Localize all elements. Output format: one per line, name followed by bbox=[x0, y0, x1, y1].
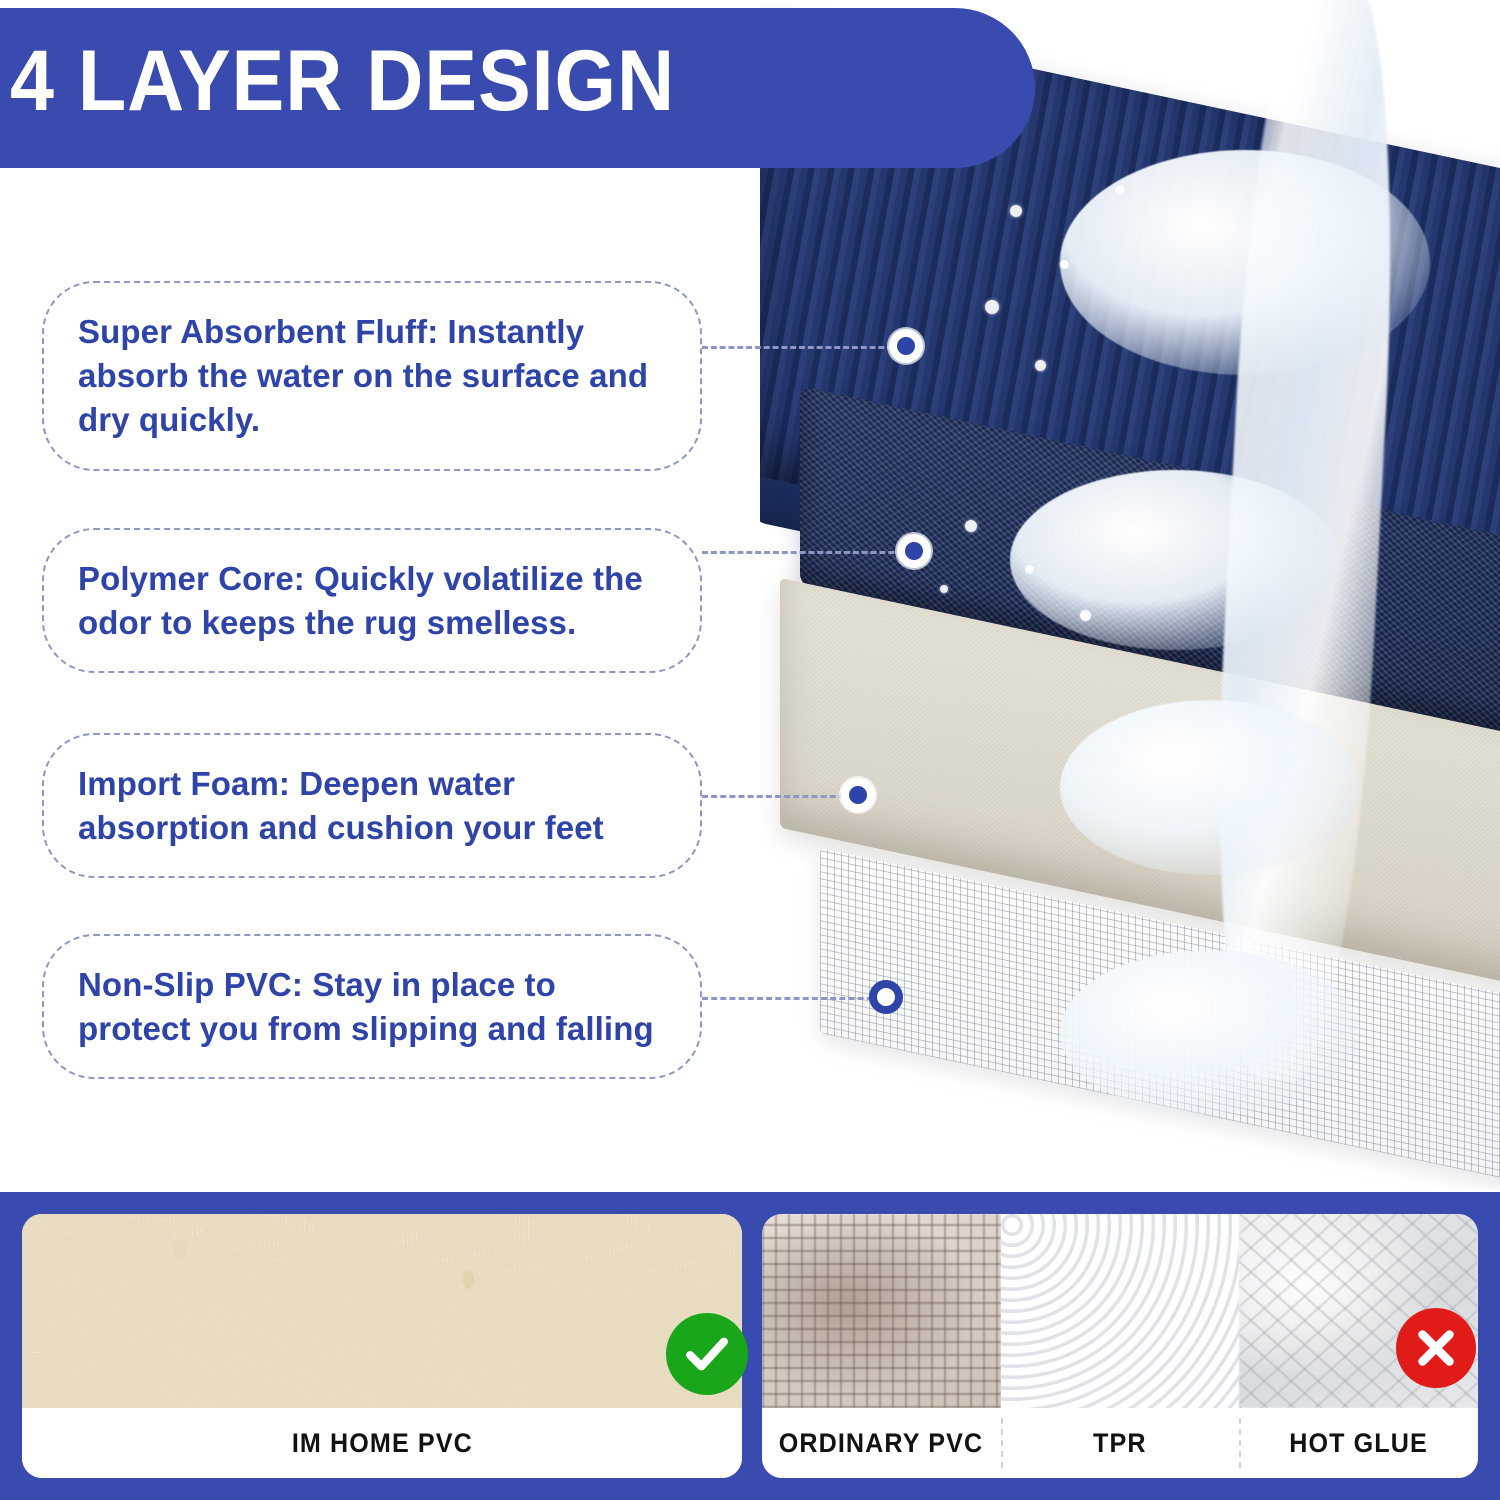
connector-line-3 bbox=[702, 795, 854, 798]
callout-text: Super Absorbent Fluff: Instantly absorb … bbox=[78, 310, 666, 442]
bad-labels: ORDINARY PVC TPR HOT GLUE bbox=[762, 1408, 1478, 1478]
water-droplet bbox=[1060, 260, 1069, 269]
water-splash bbox=[1060, 150, 1430, 375]
water-droplet bbox=[1080, 610, 1091, 621]
good-label: IM HOME PVC bbox=[291, 1428, 472, 1459]
connector-line-1 bbox=[702, 346, 902, 349]
page-title: 4 LAYER DESIGN bbox=[10, 32, 675, 131]
check-icon bbox=[666, 1313, 748, 1395]
swatch-im-home-pvc bbox=[22, 1214, 742, 1408]
comparison-card-good: IM HOME PVC bbox=[22, 1214, 742, 1478]
connector-line-2 bbox=[702, 551, 912, 554]
label-divider bbox=[1239, 1418, 1241, 1468]
header-banner: 4 LAYER DESIGN bbox=[0, 8, 1035, 168]
callout-polymer-core: Polymer Core: Quickly volatilize the odo… bbox=[42, 528, 702, 673]
bad-label-hot-glue: HOT GLUE bbox=[1289, 1428, 1428, 1459]
water-droplet bbox=[965, 520, 977, 532]
comparison-card-bad: ORDINARY PVC TPR HOT GLUE bbox=[762, 1214, 1478, 1478]
water-droplet bbox=[1025, 565, 1034, 574]
callout-non-slip-pvc: Non-Slip PVC: Stay in place to protect y… bbox=[42, 934, 702, 1079]
water-splash bbox=[1010, 470, 1340, 650]
layer-marker-import-foam bbox=[841, 778, 875, 812]
product-infographic: 4 LAYER DESIGN Super Absorbent Fluff: In… bbox=[0, 0, 1500, 1500]
connector-line-4 bbox=[702, 997, 882, 1000]
cross-icon bbox=[1396, 1308, 1476, 1388]
layer-marker-non-slip-pvc bbox=[869, 980, 903, 1014]
water-droplet bbox=[1035, 360, 1046, 371]
layer-marker-polymer-core bbox=[897, 534, 931, 568]
callout-super-absorbent-fluff: Super Absorbent Fluff: Instantly absorb … bbox=[42, 281, 702, 471]
bad-label-ordinary-pvc: ORDINARY PVC bbox=[779, 1428, 984, 1459]
callout-text: Non-Slip PVC: Stay in place to protect y… bbox=[78, 963, 666, 1051]
water-droplet bbox=[940, 585, 948, 593]
label-cell-ordinary-pvc: ORDINARY PVC bbox=[762, 1408, 1001, 1478]
bad-swatches bbox=[762, 1214, 1478, 1408]
label-cell-hot-glue: HOT GLUE bbox=[1239, 1408, 1478, 1478]
water-splash bbox=[1060, 700, 1360, 875]
label-divider bbox=[1001, 1418, 1003, 1468]
water-droplet bbox=[1115, 185, 1125, 195]
swatch-tpr bbox=[1001, 1214, 1240, 1408]
callout-text: Import Foam: Deepen water absorption and… bbox=[78, 762, 666, 850]
bad-label-tpr: TPR bbox=[1093, 1428, 1147, 1459]
swatch-ordinary-pvc bbox=[762, 1214, 1001, 1408]
good-labels: IM HOME PVC bbox=[22, 1408, 742, 1478]
callout-import-foam: Import Foam: Deepen water absorption and… bbox=[42, 733, 702, 878]
callout-text: Polymer Core: Quickly volatilize the odo… bbox=[78, 557, 666, 645]
water-splash bbox=[1060, 950, 1360, 1115]
water-droplet bbox=[985, 300, 999, 314]
good-swatches bbox=[22, 1214, 742, 1408]
water-droplet bbox=[1010, 205, 1022, 217]
product-layer-photo bbox=[760, 0, 1500, 1190]
label-cell-tpr: TPR bbox=[1001, 1408, 1240, 1478]
layer-marker-fluff bbox=[889, 329, 923, 363]
label-cell-im-home-pvc: IM HOME PVC bbox=[22, 1408, 742, 1478]
